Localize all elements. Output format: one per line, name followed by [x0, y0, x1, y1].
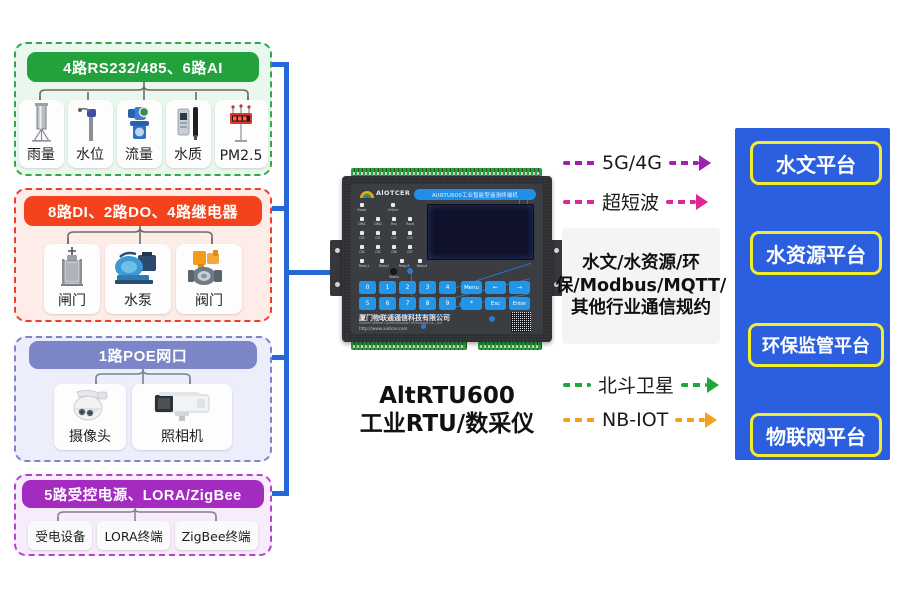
tile-water-pump[interactable]: 水泵	[105, 244, 171, 314]
comm-label: NB-IOT	[595, 409, 675, 431]
key-right-arrow[interactable]: →	[509, 281, 530, 294]
chip-zigbee-terminal[interactable]: ZigBee终端	[175, 521, 258, 550]
pcb-via	[407, 268, 413, 274]
platform-iot[interactable]: 物联网平台	[750, 413, 882, 457]
key-star[interactable]: *	[461, 297, 482, 310]
water-pump-icon	[105, 244, 171, 290]
platform-environmental[interactable]: 环保监管平台	[748, 323, 884, 367]
led-di2	[392, 231, 396, 235]
led-label: DI1	[375, 236, 380, 240]
group-power-chips: 受电设备 LORA终端 ZigBee终端	[14, 521, 272, 550]
led-label: DI7	[407, 250, 412, 254]
led-label-power: Power	[357, 208, 366, 212]
tile-label: 照相机	[161, 426, 203, 450]
device-title-line2: 工业RTU/数采仪	[338, 410, 556, 438]
led-di3	[408, 231, 412, 235]
led-label: DI0	[359, 236, 364, 240]
led-di5	[376, 245, 380, 249]
group-power-lora-zigbee-header[interactable]: 5路受控电源、LORA/ZigBee	[22, 480, 264, 508]
led-label: Relay4	[417, 264, 427, 268]
tile-water-quality[interactable]: 水质	[166, 100, 211, 168]
comm-link-nbiot: NB-IOT	[563, 409, 717, 431]
valve-icon	[176, 244, 242, 290]
device-banner: AltRTU600工业智能型遥测终端机	[414, 189, 536, 200]
arrow-head-icon	[699, 155, 711, 171]
device-faceplate: AlOTCER AltRTU600工业智能型遥测终端机 Power Online…	[351, 184, 543, 334]
key-esc[interactable]: Esc	[485, 297, 506, 310]
mount-hole	[335, 248, 340, 253]
led-di6	[392, 245, 396, 249]
tile-label: 流量	[125, 144, 153, 168]
key-1[interactable]: 1	[379, 281, 396, 294]
tile-label: 雨量	[27, 144, 55, 168]
dash-line	[563, 161, 595, 165]
dash-line	[681, 383, 707, 387]
led-online	[391, 203, 395, 207]
led-label: Run	[391, 222, 397, 226]
tile-label: 水位	[76, 144, 104, 168]
tile-box-camera[interactable]: 照相机	[132, 384, 232, 450]
tile-rain-gauge[interactable]: 雨量	[19, 100, 64, 168]
tile-pm25[interactable]: PM2.5	[215, 100, 268, 168]
tile-flow-meter[interactable]: 流量	[117, 100, 162, 168]
dash-line	[563, 418, 595, 422]
tile-sluice-gate[interactable]: 闸门	[44, 244, 100, 314]
led-di1	[376, 231, 380, 235]
tile-label: PM2.5	[220, 148, 263, 168]
platform-water-resources[interactable]: 水资源平台	[750, 231, 882, 275]
tile-label: 闸门	[58, 290, 86, 314]
mount-hole	[335, 282, 340, 287]
company-name-en: Xiamen Aiotcer Communication Technology …	[359, 321, 442, 325]
comm-label: 北斗卫星	[591, 371, 681, 398]
ptz-dome-camera-icon	[54, 384, 126, 426]
led-label: Relay1	[359, 264, 369, 268]
led-label: DI3	[407, 236, 412, 240]
led-relay4	[418, 259, 422, 263]
qr-code	[511, 312, 531, 332]
device-brand: AlOTCER	[376, 189, 410, 197]
key-7[interactable]: 7	[399, 297, 416, 310]
terminal-strip-bottom-right	[478, 341, 542, 350]
tile-label: 水质	[174, 144, 202, 168]
diagram-canvas: 4路RS232/485、6路AI 雨量	[0, 0, 900, 600]
key-9[interactable]: 9	[439, 297, 456, 310]
sluice-gate-icon	[44, 244, 100, 290]
group-serial-ai-tiles: 雨量 水位	[14, 100, 272, 168]
tile-dome-camera[interactable]: 摄像头	[54, 384, 126, 450]
group-di-do-relay-header[interactable]: 8路DI、2路DO、4路继电器	[24, 196, 262, 226]
company-website: http://www.aiotcer.com	[359, 326, 407, 331]
tile-label: 阀门	[195, 290, 223, 314]
bus-trunk-vertical	[284, 62, 289, 496]
bus-to-device	[284, 270, 336, 275]
status-indicator-knob	[390, 268, 397, 275]
arrow-head-icon	[707, 377, 719, 393]
dash-line	[675, 418, 705, 422]
led-di4	[360, 245, 364, 249]
led-power	[360, 203, 364, 207]
comm-label: 5G/4G	[595, 152, 669, 174]
key-5[interactable]: 5	[359, 297, 376, 310]
device-lcd-screen[interactable]	[427, 204, 534, 260]
device-title: AltRTU600 工业RTU/数采仪	[338, 382, 556, 438]
key-0[interactable]: 0	[359, 281, 376, 294]
comm-link-beidou: 北斗卫星	[563, 371, 719, 398]
pm25-monitor-icon	[215, 100, 268, 148]
group-serial-ai-header[interactable]: 4路RS232/485、6路AI	[27, 52, 259, 82]
tile-valve[interactable]: 阀门	[176, 244, 242, 314]
aiotcer-logo-icon	[359, 189, 375, 200]
key-enter[interactable]: Enter	[509, 297, 530, 310]
water-level-sensor-icon	[68, 100, 113, 144]
dash-line	[669, 161, 699, 165]
comm-link-uhf: 超短波	[563, 188, 708, 215]
key-left-arrow[interactable]: ←	[485, 281, 506, 294]
led-di7	[408, 245, 412, 249]
key-4[interactable]: 4	[439, 281, 456, 294]
led-label: DI6	[391, 250, 396, 254]
led-label: DIN2	[374, 222, 382, 226]
group-poe-tiles: 摄像头 照相机	[14, 384, 272, 450]
group-poe-header[interactable]: 1路POE网口	[29, 341, 257, 369]
led-label: DI4	[359, 250, 364, 254]
rain-gauge-icon	[19, 100, 64, 144]
tile-label: 水泵	[124, 290, 152, 314]
key-2[interactable]: 2	[399, 281, 416, 294]
tile-label: 摄像头	[69, 426, 111, 450]
protocol-list: 水文/水资源/环保/Modbus/MQTT/其他行业通信规约	[562, 228, 720, 344]
pcb-via	[489, 316, 495, 322]
led-relay2	[380, 259, 384, 263]
device-title-line1: AltRTU600	[338, 382, 556, 410]
key-3[interactable]: 3	[419, 281, 436, 294]
comm-link-5g4g: 5G/4G	[563, 152, 711, 174]
dash-line	[563, 200, 595, 204]
chip-powered-device[interactable]: 受电设备	[28, 521, 92, 550]
led-din2	[376, 217, 380, 221]
led-di0	[360, 231, 364, 235]
led-label: DI5	[375, 250, 380, 254]
terminal-strip-bottom-left	[351, 341, 467, 350]
dash-line	[666, 200, 696, 204]
flow-meter-icon	[117, 100, 162, 144]
led-label: DI2	[391, 236, 396, 240]
led-din1	[360, 217, 364, 221]
arrow-head-icon	[705, 412, 717, 428]
arrow-head-icon	[696, 194, 708, 210]
led-label: Rsvd	[406, 222, 414, 226]
led-label: DIN1	[358, 222, 366, 226]
status-knob-label: Status	[389, 275, 399, 279]
led-run	[392, 217, 396, 221]
led-label: Relay2	[379, 264, 389, 268]
led-rsvd	[408, 217, 412, 221]
box-camera-icon	[132, 384, 232, 426]
led-label: Relay3	[399, 264, 409, 268]
tile-water-level[interactable]: 水位	[68, 100, 113, 168]
chip-lora-terminal[interactable]: LORA终端	[97, 521, 169, 550]
led-label-online: Online	[388, 208, 398, 212]
key-menu[interactable]: Menu	[461, 281, 482, 294]
key-6[interactable]: 6	[379, 297, 396, 310]
key-8[interactable]: 8	[419, 297, 436, 310]
led-relay3	[400, 259, 404, 263]
dash-line	[563, 383, 591, 387]
water-quality-probe-icon	[166, 100, 211, 144]
platform-hydrology[interactable]: 水文平台	[750, 141, 882, 185]
group-di-do-relay-tiles: 闸门 水泵	[14, 244, 272, 314]
comm-label: 超短波	[595, 188, 666, 215]
led-relay1	[360, 259, 364, 263]
